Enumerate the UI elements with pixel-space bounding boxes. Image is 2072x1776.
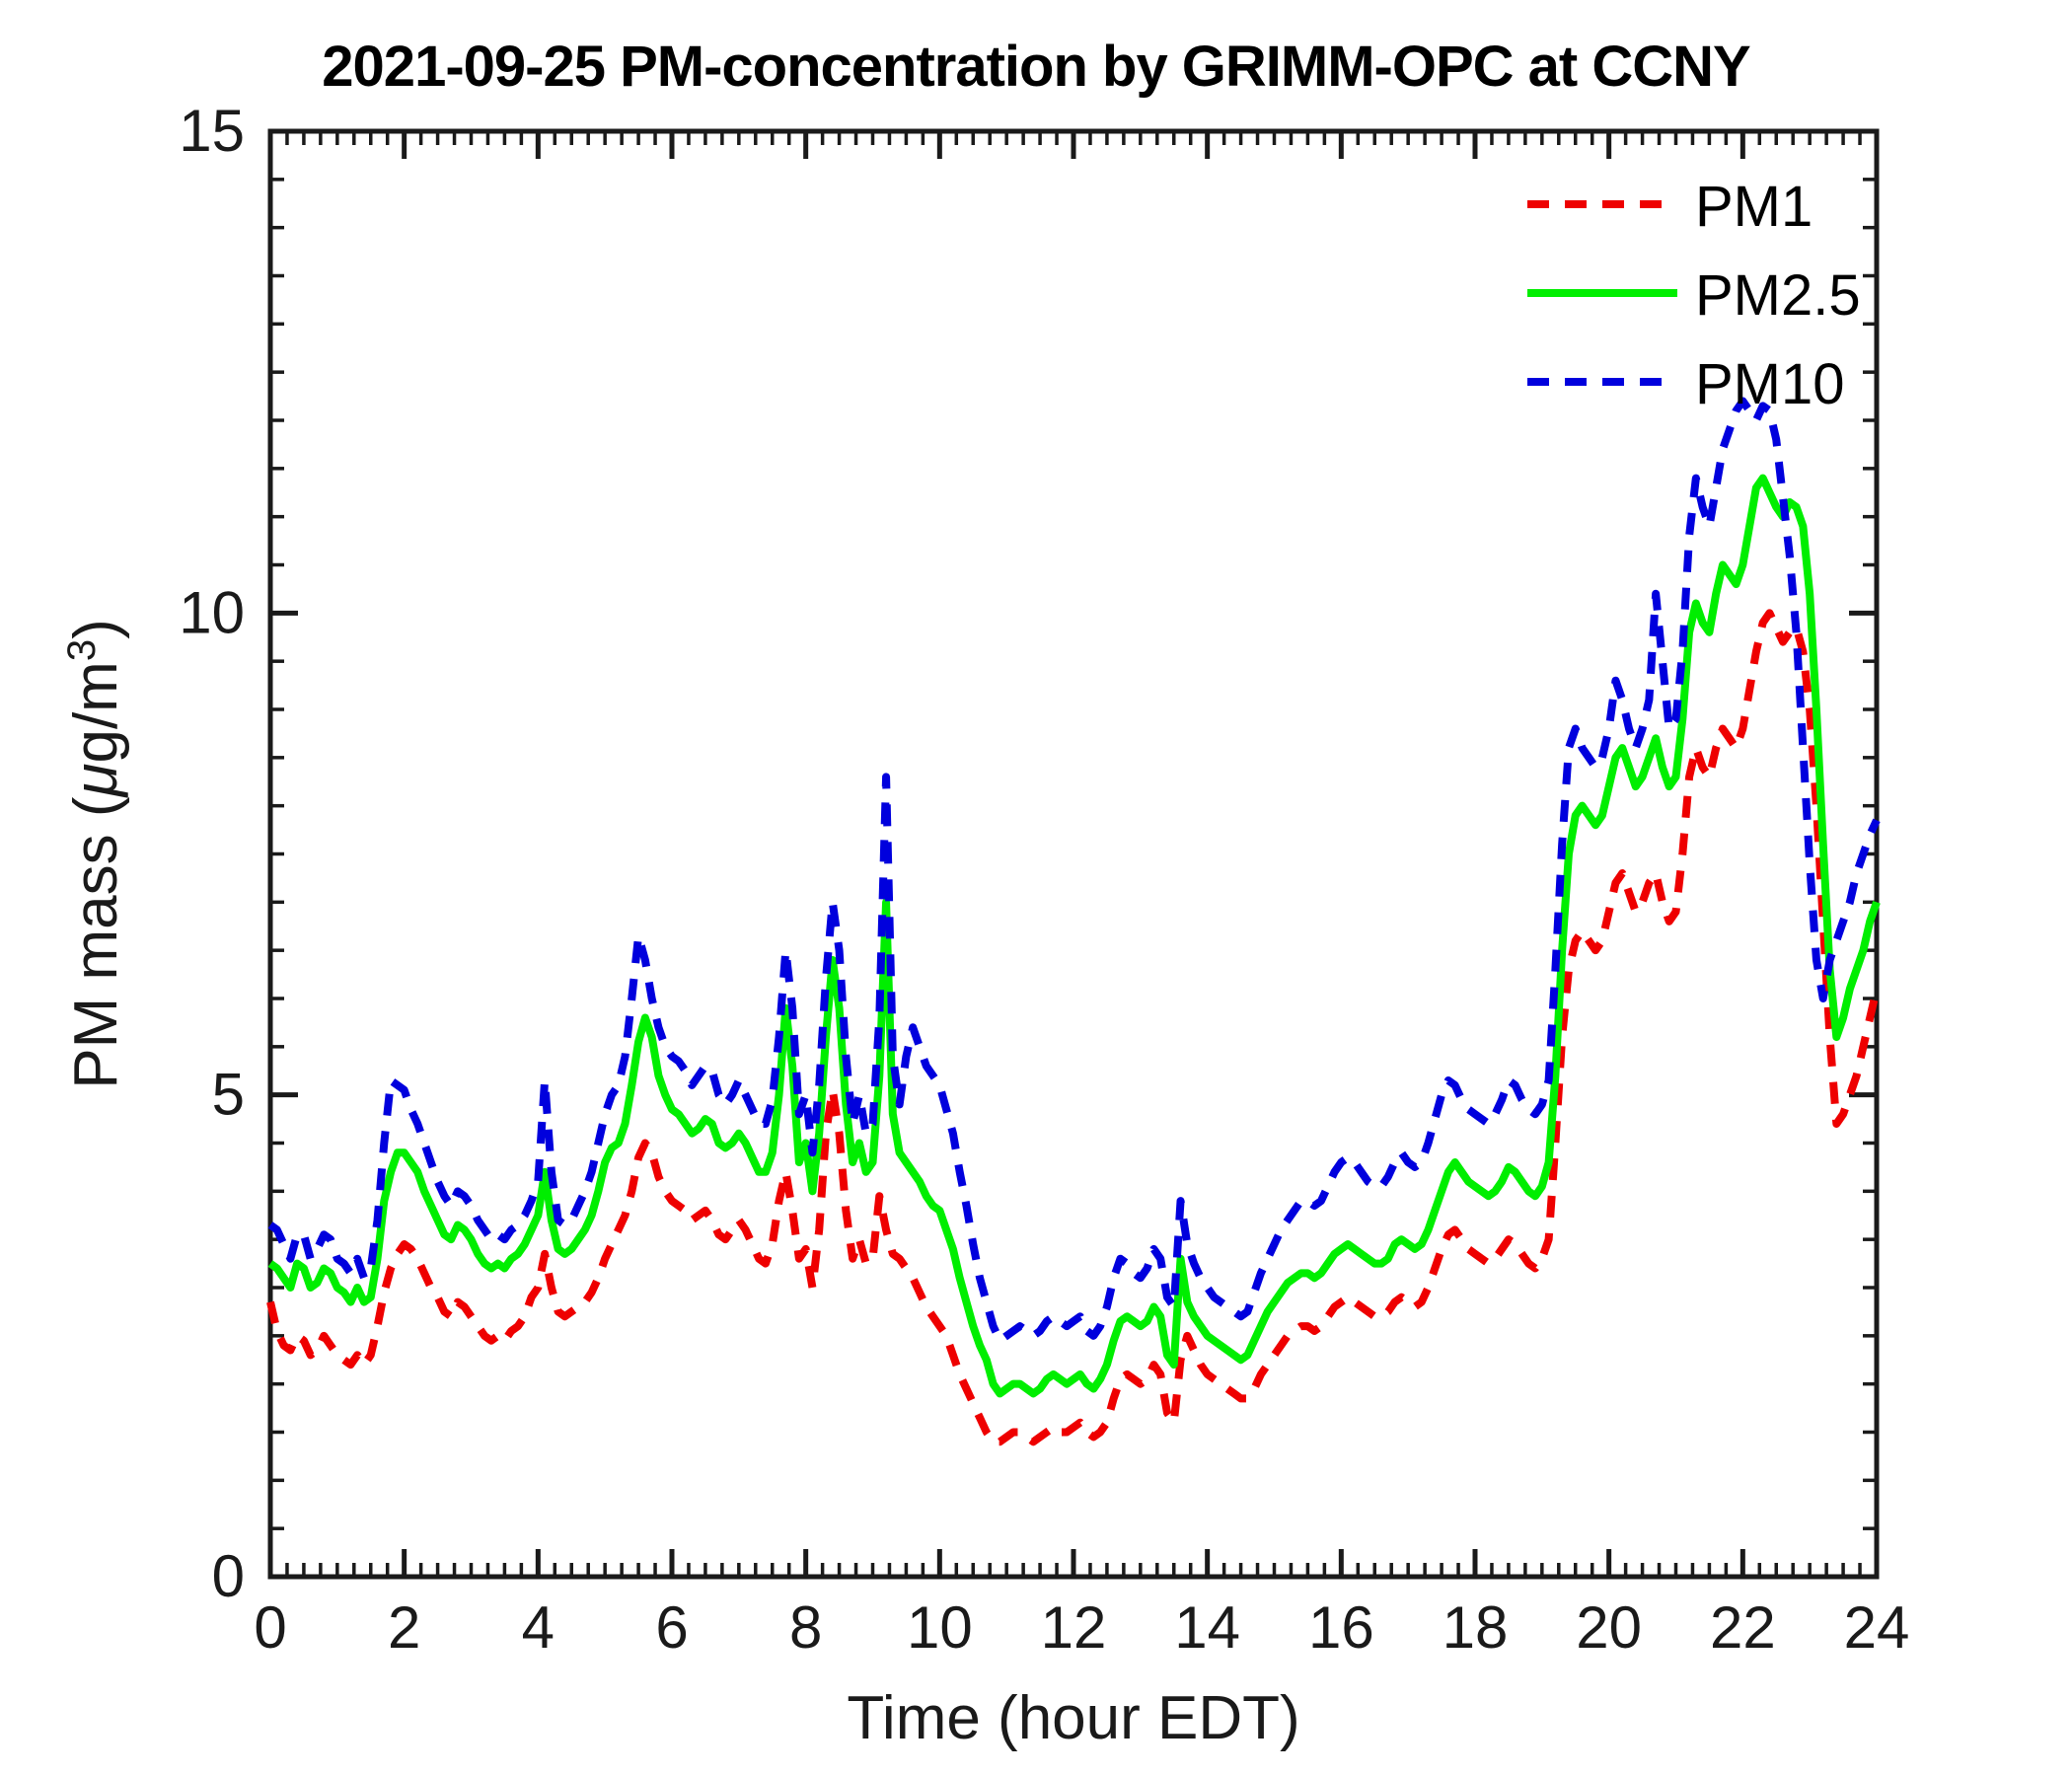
legend-label-pm2-5: PM2.5 (1695, 263, 1861, 328)
x-axis-title: Time (hour EDT) (847, 1684, 1299, 1752)
x-tick-label: 4 (522, 1594, 555, 1661)
y-axis-title: PM mass (μg/m3) (60, 619, 130, 1088)
x-tick-label: 10 (907, 1594, 973, 1661)
x-tick-label: 18 (1443, 1594, 1509, 1661)
x-tick-label: 8 (789, 1594, 822, 1661)
axes-box (270, 131, 1877, 1577)
y-tick-label: 5 (212, 1062, 245, 1128)
minor-ticks (270, 131, 1877, 1577)
legend: PM1PM2.5PM10 (1527, 175, 1861, 416)
legend-label-pm1: PM1 (1695, 175, 1813, 239)
data-series-group (270, 401, 1877, 1442)
x-tick-label: 12 (1041, 1594, 1107, 1661)
series-line-pm2-5 (270, 479, 1877, 1394)
plot-canvas: 024681012141618202224051015PM1PM2.5PM10T… (0, 0, 2072, 1776)
y-axis-title-text: PM mass (μg/m3) (60, 619, 130, 1088)
x-tick-label: 6 (655, 1594, 688, 1661)
series-line-pm10 (270, 401, 1877, 1340)
major-ticks: 024681012141618202224051015 (179, 98, 1909, 1661)
x-tick-label: 0 (254, 1594, 286, 1661)
axes-frame (270, 131, 1877, 1577)
y-tick-label: 0 (212, 1543, 245, 1609)
x-tick-label: 2 (388, 1594, 420, 1661)
y-tick-label: 15 (179, 98, 245, 164)
legend-label-pm10: PM10 (1695, 352, 1845, 416)
y-tick-label: 10 (179, 579, 245, 645)
x-tick-label: 22 (1710, 1594, 1776, 1661)
x-tick-label: 14 (1174, 1594, 1240, 1661)
x-tick-label: 20 (1576, 1594, 1642, 1661)
x-tick-label: 24 (1844, 1594, 1910, 1661)
x-tick-label: 16 (1308, 1594, 1374, 1661)
chart-figure: 2021-09-25 PM-concentration by GRIMM-OPC… (0, 0, 2072, 1776)
